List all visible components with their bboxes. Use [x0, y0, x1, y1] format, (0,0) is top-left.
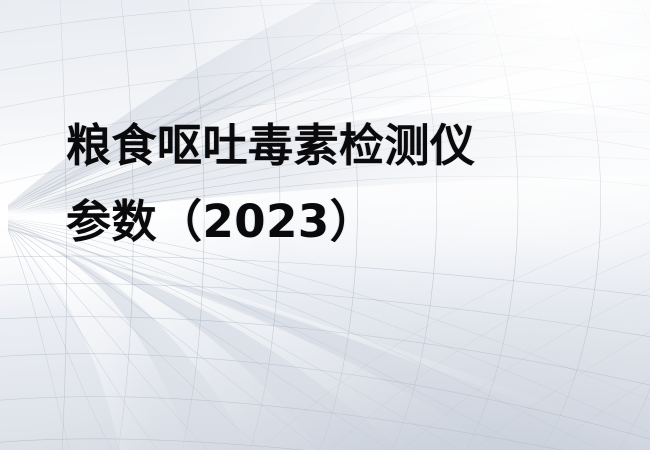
title-line-secondary: 参数（2023） — [66, 184, 586, 260]
title-banner: 粮食呕吐毒素检测仪 参数（2023） — [0, 0, 650, 450]
title-block: 粮食呕吐毒素检测仪 参数（2023） — [66, 108, 586, 260]
title-line-primary: 粮食呕吐毒素检测仪 — [66, 108, 586, 184]
